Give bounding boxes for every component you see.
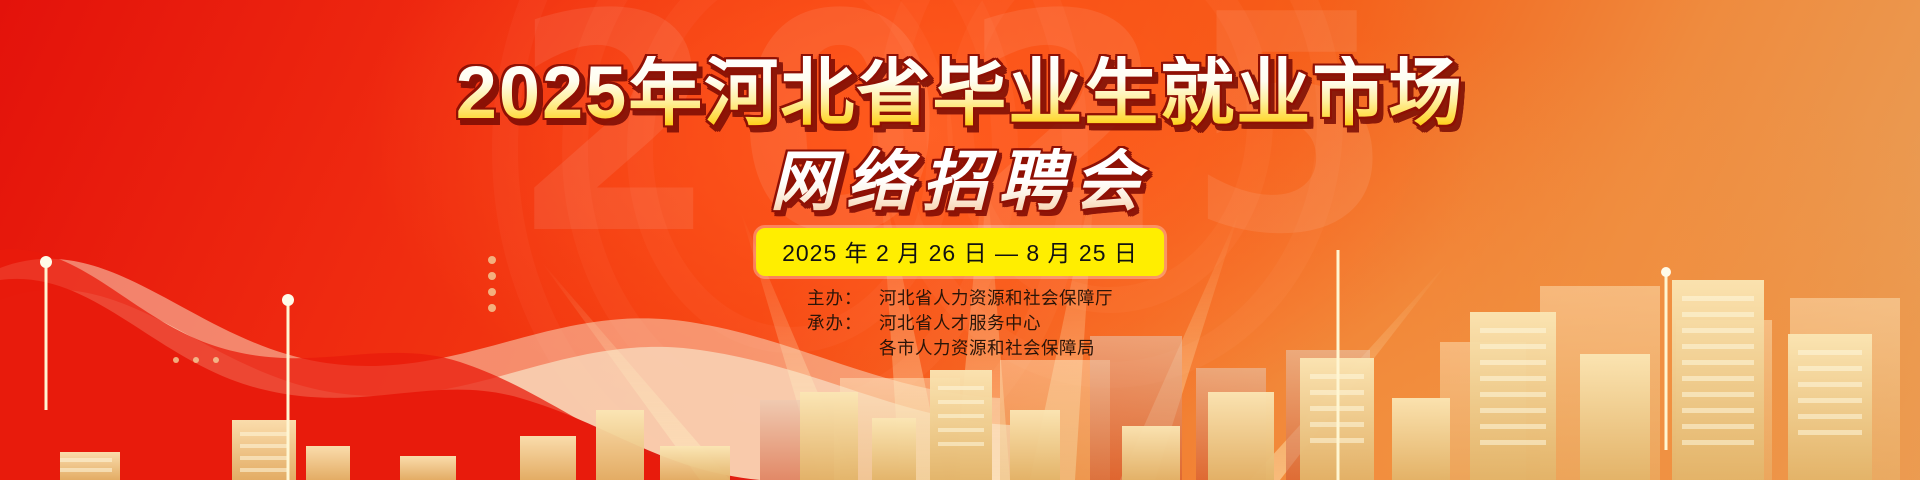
page-title-line2: 网络招聘会 xyxy=(0,148,1920,214)
organizer-value: 河北省人力资源和社会保障厅 xyxy=(879,286,1113,311)
recruitment-banner: 2025 xyxy=(0,0,1920,480)
title-line2-text: 网络招聘会 xyxy=(770,148,1150,214)
organizer-label xyxy=(807,336,879,361)
page-title-line1: 2025年河北省毕业生就业市场 xyxy=(0,56,1920,130)
date-range-badge: 2025 年 2 月 26 日 — 8 月 25 日 xyxy=(756,228,1164,276)
banner-content: 2025年河北省毕业生就业市场 网络招聘会 网络招聘会 2025 年 2 月 2… xyxy=(0,0,1920,480)
organizer-row: 承办： 河北省人才服务中心 xyxy=(807,311,1113,336)
organizer-label: 承办： xyxy=(807,311,879,336)
organizer-label: 主办： xyxy=(807,286,879,311)
organizer-row: 主办： 河北省人力资源和社会保障厅 xyxy=(807,286,1113,311)
organizer-list: 主办： 河北省人力资源和社会保障厅 承办： 河北省人才服务中心 各市人力资源和社… xyxy=(807,286,1113,361)
title-line1-text: 2025年河北省毕业生就业市场 xyxy=(456,56,1465,130)
organizer-value: 河北省人才服务中心 xyxy=(879,311,1041,336)
organizer-value: 各市人力资源和社会保障局 xyxy=(879,336,1095,361)
organizer-row: 各市人力资源和社会保障局 xyxy=(807,336,1113,361)
